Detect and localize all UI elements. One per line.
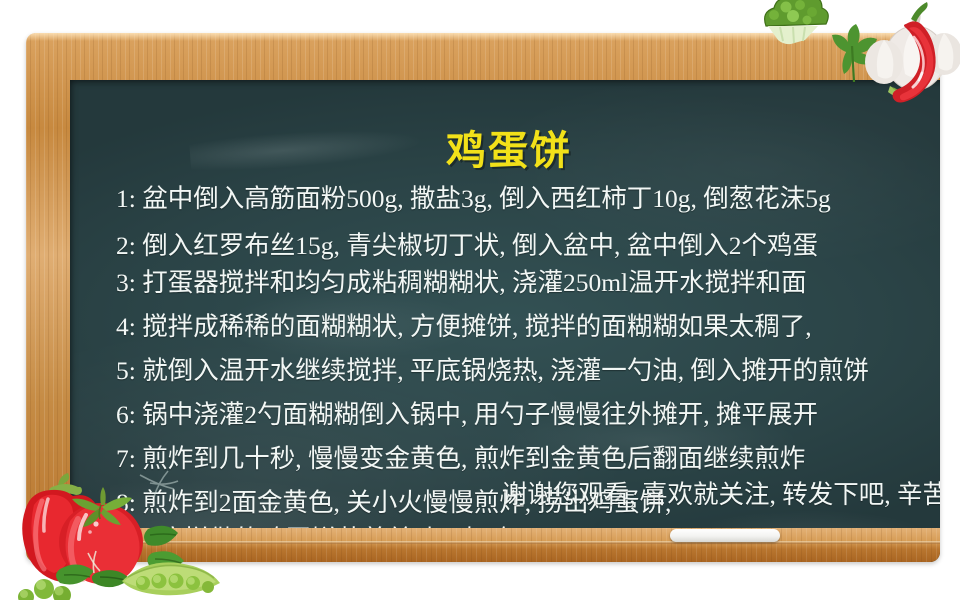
recipe-step: 5: 就倒入温开水继续搅拌, 平底锅烧热, 浇灌一勺油, 倒入摊开的煎饼	[116, 352, 940, 389]
recipe-step: 6: 锅中浇灌2勺面糊糊倒入锅中, 用勺子慢慢往外摊开, 摊平展开	[116, 396, 940, 433]
chalk-ledge	[26, 528, 940, 562]
recipe-title: 鸡蛋饼	[70, 118, 940, 176]
screenshot-canvas: 鸡蛋饼 1: 盆中倒入高筋面粉500g, 撒盐3g, 倒入西红柿丁10g, 倒葱…	[0, 0, 960, 600]
recipe-step: 1: 盆中倒入高筋面粉500g, 撒盐3g, 倒入西红柿丁10g, 倒葱花沫5g	[116, 180, 940, 217]
ledge-lip	[26, 541, 940, 544]
frame-top-highlight	[26, 33, 940, 41]
recipe-step: 4: 搅拌成稀稀的面糊糊状, 方便摊饼, 搅拌的面糊糊如果太稠了,	[116, 308, 940, 345]
chalk-stick	[670, 529, 780, 542]
chalkboard-frame: 鸡蛋饼 1: 盆中倒入高筋面粉500g, 撒盐3g, 倒入西红柿丁10g, 倒葱…	[26, 33, 940, 562]
recipe-step: 7: 煎炸到几十秒, 慢慢变金黄色, 煎炸到金黄色后翻面继续煎炸	[116, 440, 940, 477]
closing-message: 谢谢您观看, 喜欢就关注, 转发下吧, 辛苦	[116, 478, 940, 512]
chalkboard-surface: 鸡蛋饼 1: 盆中倒入高筋面粉500g, 撒盐3g, 倒入西红柿丁10g, 倒葱…	[70, 80, 940, 562]
recipe-step: 3: 打蛋器搅拌和均匀成粘稠糊糊状, 浇灌250ml温开水搅拌和面	[116, 264, 940, 301]
recipe-step: 2: 倒入红罗布丝15g, 青尖椒切丁状, 倒入盆中, 盆中倒入2个鸡蛋	[116, 227, 940, 264]
peas-icon	[18, 579, 71, 600]
pea-pod-icon	[122, 562, 220, 595]
